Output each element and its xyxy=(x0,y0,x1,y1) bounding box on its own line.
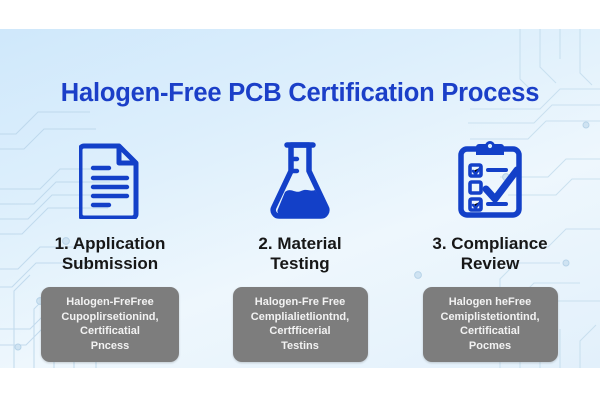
step-label-line-2: Submission xyxy=(30,254,190,274)
steps-row: 1. Application Submission Halogen-FreFre… xyxy=(30,134,570,362)
flask-icon xyxy=(267,134,333,226)
description-line: Pncess xyxy=(91,339,130,354)
step-label: 3. Compliance Review xyxy=(410,234,570,274)
letterbox-band-bottom xyxy=(0,368,600,402)
main-panel: Halogen-Free PCB Certification Process xyxy=(0,29,600,368)
step-label-line-1: 1. Application xyxy=(30,234,190,254)
description-line: Halogen heFree xyxy=(449,295,532,310)
step-label-line-1: 3. Compliance xyxy=(410,234,570,254)
document-icon xyxy=(79,134,141,226)
description-line: Testins xyxy=(281,339,319,354)
page-title: Halogen-Free PCB Certification Process xyxy=(0,79,600,108)
clipboard-checklist-icon xyxy=(456,134,524,226)
step-description-box: Halogen-FreFree Cupoplirsetionind, Certi… xyxy=(41,287,179,362)
description-line: Halogen-Fre Free xyxy=(255,295,345,310)
step-description-box: Halogen heFree Cemiplistetiontind, Certi… xyxy=(423,287,558,362)
description-line: Certfficerial xyxy=(269,324,330,339)
step-card-application-submission[interactable]: 1. Application Submission Halogen-FreFre… xyxy=(30,134,190,362)
step-card-compliance-review[interactable]: 3. Compliance Review Halogen heFree Cemi… xyxy=(410,134,570,362)
step-description-box: Halogen-Fre Free Cemplialietliontnd, Cer… xyxy=(233,287,368,362)
step-label-line-2: Review xyxy=(410,254,570,274)
description-line: Cemplialietliontnd, xyxy=(251,310,349,325)
description-line: Certificatial xyxy=(460,324,520,339)
letterbox-band-top xyxy=(0,0,600,29)
description-line: Cemiplistetiontind, xyxy=(441,310,540,325)
description-line: Halogen-FreFree xyxy=(66,295,153,310)
description-line: Cupoplirsetionind, xyxy=(61,310,158,325)
description-line: Certificatial xyxy=(80,324,140,339)
step-label: 2. Material Testing xyxy=(220,234,380,274)
step-label-line-1: 2. Material xyxy=(220,234,380,254)
step-card-material-testing[interactable]: 2. Material Testing Halogen-Fre Free Cem… xyxy=(220,134,380,362)
infographic-canvas: Halogen-Free PCB Certification Process xyxy=(0,0,600,402)
step-label: 1. Application Submission xyxy=(30,234,190,274)
description-line: Pocmes xyxy=(469,339,511,354)
step-label-line-2: Testing xyxy=(220,254,380,274)
